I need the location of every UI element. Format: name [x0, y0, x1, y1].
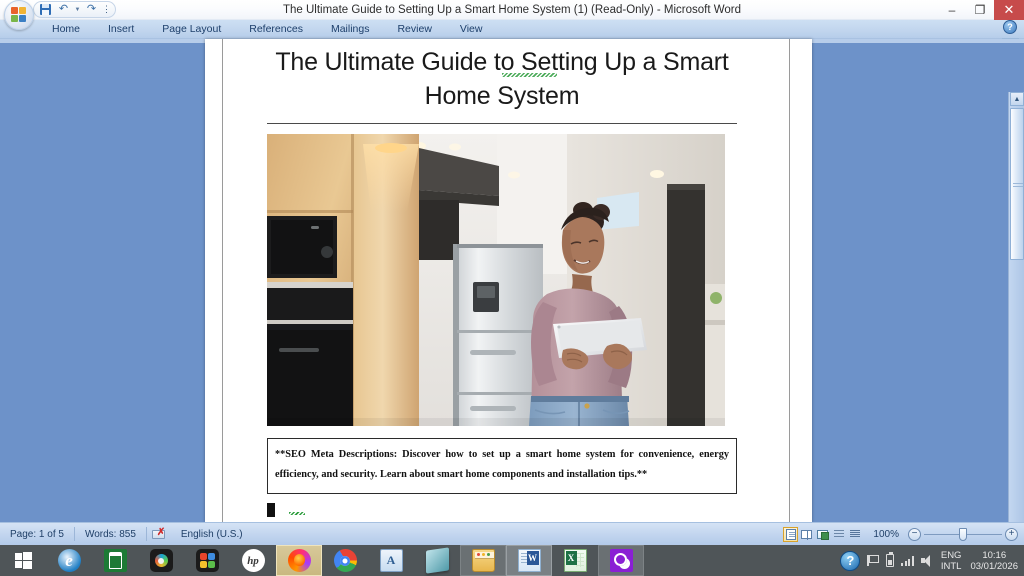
ribbon-tab-strip: Home Insert Page Layout References Maili…: [0, 20, 1024, 39]
taskbar-item-word[interactable]: [506, 545, 552, 576]
notification-flag-icon[interactable]: [867, 555, 879, 566]
vertical-scrollbar[interactable]: ▲ ▼: [1008, 92, 1024, 561]
clock[interactable]: 10:16 03/01/2026: [968, 550, 1018, 572]
customize-qat-button[interactable]: ⋮: [102, 3, 111, 17]
sticky-note-icon: [426, 547, 449, 573]
word-icon: [518, 549, 541, 572]
close-button[interactable]: ✕: [994, 0, 1024, 20]
windows-logo-icon: [15, 552, 32, 569]
tab-insert[interactable]: Insert: [94, 20, 148, 39]
zoom-in-button[interactable]: +: [1005, 528, 1018, 541]
tray-help-icon[interactable]: ?: [840, 551, 860, 571]
taskbar-item-search[interactable]: [598, 545, 644, 576]
office-logo-icon: [11, 7, 28, 24]
tab-review[interactable]: Review: [383, 20, 445, 39]
taskbar-item-file-explorer[interactable]: [460, 545, 506, 576]
puzzle-app-icon: [196, 549, 219, 572]
outline-icon: [834, 529, 844, 539]
save-button[interactable]: [38, 3, 53, 17]
spellcheck-underline-icon: [502, 73, 557, 77]
spellcheck-underline-icon: [289, 512, 305, 515]
clock-date: 03/01/2026: [970, 561, 1018, 572]
scroll-up-button[interactable]: ▲: [1010, 92, 1024, 106]
status-bar-right: 100% − +: [781, 526, 1024, 543]
zoom-slider-thumb[interactable]: [959, 528, 967, 541]
undo-icon: ↶: [59, 4, 68, 15]
media-player-icon: [150, 549, 173, 572]
document-content: The Ultimate Guide to Setting Up a Smart…: [267, 45, 737, 517]
seo-meta-box[interactable]: **SEO Meta Descriptions: Discover how to…: [267, 438, 737, 494]
taskbar-item-sticky-note[interactable]: [414, 545, 460, 576]
redo-button[interactable]: ↷: [84, 3, 99, 17]
taskbar: ? ENG INTL 10:16 03/01/2026: [0, 545, 1024, 576]
office-button[interactable]: [4, 0, 34, 30]
kitchen-photo-illustration: [267, 134, 725, 426]
view-draft-button[interactable]: [847, 527, 862, 542]
overflow-icon: ⋮: [102, 4, 111, 15]
view-print-layout-button[interactable]: [783, 527, 798, 542]
tab-references[interactable]: References: [235, 20, 317, 39]
tab-mailings[interactable]: Mailings: [317, 20, 384, 39]
status-language[interactable]: English (U.S.): [171, 523, 253, 546]
taskbar-item-media-player[interactable]: [138, 545, 184, 576]
firefox-icon: [288, 549, 311, 572]
document-image[interactable]: [267, 134, 725, 426]
taskbar-item-chrome[interactable]: [322, 545, 368, 576]
status-divider: [146, 527, 147, 541]
file-explorer-icon: [472, 549, 495, 572]
word-window: The Ultimate Guide to Setting Up a Smart…: [0, 0, 1024, 545]
document-heading-text: The Ultimate Guide to Setting Up a Smart…: [275, 48, 728, 110]
chrome-icon: [334, 549, 357, 572]
zoom-out-button[interactable]: −: [908, 528, 921, 541]
undo-dropdown[interactable]: ▼: [74, 3, 81, 17]
minimize-button[interactable]: –: [938, 0, 966, 20]
font-viewer-icon: [380, 549, 403, 572]
status-bar: Page: 1 of 5 Words: 855 ✗ English (U.S.)…: [0, 522, 1024, 545]
language-indicator[interactable]: ENG INTL: [941, 550, 962, 572]
start-button[interactable]: [0, 545, 46, 576]
tab-page-layout[interactable]: Page Layout: [148, 20, 235, 39]
help-icon[interactable]: ?: [1003, 20, 1017, 34]
volume-icon[interactable]: [921, 555, 934, 567]
save-icon: [40, 4, 51, 15]
scrollbar-thumb[interactable]: [1010, 108, 1024, 260]
language-line-2: INTL: [941, 561, 962, 572]
taskbar-item-excel[interactable]: [552, 545, 598, 576]
ribbon-tabs: Home Insert Page Layout References Maili…: [38, 20, 496, 39]
heading-divider: [267, 123, 737, 124]
view-mode-buttons: [781, 526, 864, 543]
system-tray: ? ENG INTL 10:16 03/01/2026: [840, 545, 1024, 576]
language-line-1: ENG: [941, 550, 962, 561]
web-layout-icon: [817, 530, 828, 539]
status-page-number[interactable]: Page: 1 of 5: [0, 523, 74, 546]
status-word-count[interactable]: Words: 855: [75, 523, 146, 546]
taskbar-item-font-viewer[interactable]: [368, 545, 414, 576]
taskbar-item-store[interactable]: [92, 545, 138, 576]
network-signal-icon[interactable]: [901, 555, 914, 566]
taskbar-items: [46, 545, 644, 576]
zoom-level[interactable]: 100%: [867, 529, 905, 540]
text-cursor: [267, 503, 275, 517]
document-canvas: The Ultimate Guide to Setting Up a Smart…: [0, 39, 1024, 522]
redo-icon: ↷: [87, 4, 96, 15]
store-icon: [104, 549, 127, 572]
maximize-button[interactable]: ❐: [966, 0, 994, 20]
chevron-down-icon: ▼: [75, 7, 81, 13]
search-icon: [610, 549, 633, 572]
taskbar-item-puzzle-app[interactable]: [184, 545, 230, 576]
window-title: The Ultimate Guide to Setting Up a Smart…: [0, 0, 1024, 20]
view-full-screen-reading-button[interactable]: [799, 527, 814, 542]
document-heading: The Ultimate Guide to Setting Up a Smart…: [267, 45, 737, 113]
document-page[interactable]: The Ultimate Guide to Setting Up a Smart…: [205, 39, 812, 522]
clock-time: 10:16: [982, 550, 1006, 561]
excel-icon: [564, 549, 587, 572]
tab-home[interactable]: Home: [38, 20, 94, 39]
zoom-slider[interactable]: [924, 528, 1002, 541]
view-outline-button[interactable]: [831, 527, 846, 542]
full-screen-reading-icon: [801, 530, 812, 539]
title-bar: The Ultimate Guide to Setting Up a Smart…: [0, 0, 1024, 20]
right-margin-guide: [789, 39, 790, 522]
undo-button[interactable]: ↶: [56, 3, 71, 17]
tab-view[interactable]: View: [446, 20, 497, 39]
scrollbar-grip-icon: [1013, 183, 1023, 187]
left-margin-guide: [222, 39, 223, 522]
seo-meta-text: **SEO Meta Descriptions: Discover how to…: [275, 445, 729, 485]
proofing-errors-icon[interactable]: ✗: [151, 527, 167, 542]
view-web-layout-button[interactable]: [815, 527, 830, 542]
print-layout-icon: [786, 529, 796, 540]
taskbar-item-firefox[interactable]: [276, 545, 322, 576]
quick-access-toolbar: ↶ ▼ ↷ ⋮: [33, 1, 116, 18]
internet-explorer-icon: [58, 549, 81, 572]
taskbar-item-internet-explorer[interactable]: [46, 545, 92, 576]
battery-icon[interactable]: [886, 554, 894, 567]
hp-icon: [242, 549, 265, 572]
taskbar-item-hp[interactable]: [230, 545, 276, 576]
draft-icon: [850, 529, 860, 539]
